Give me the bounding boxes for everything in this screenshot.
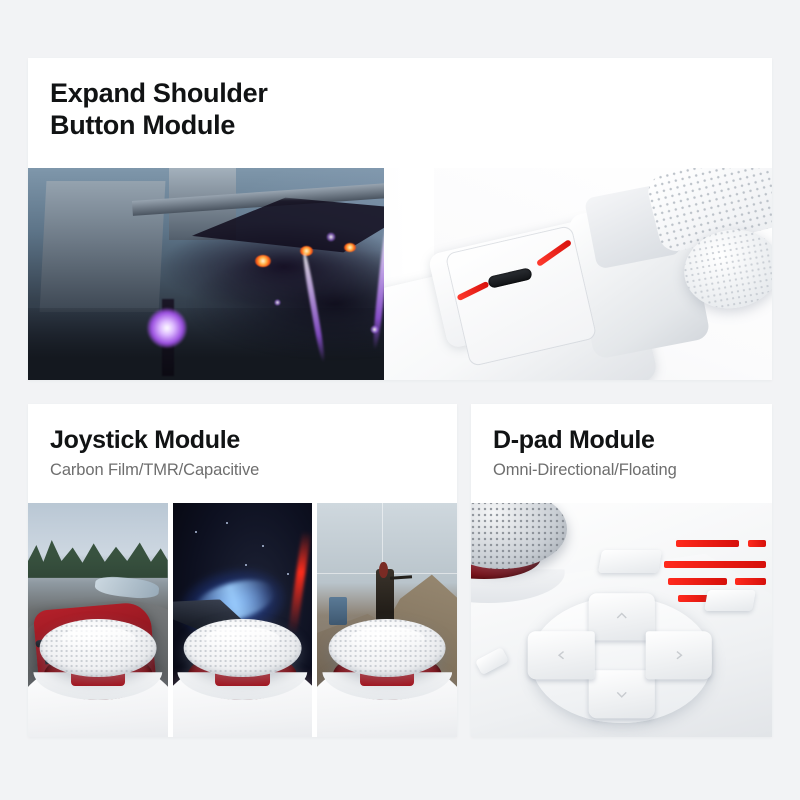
red-accent-stripe [668,578,727,585]
home-button [704,590,756,611]
joystick-thumb-space [173,503,313,737]
hero-card-header: Expand Shoulder Button Module [28,58,772,142]
dpad-card-header: D-pad Module Omni-Directional/Floating [471,404,772,480]
scene-energy-orb [147,308,187,348]
shooter-crate [329,597,347,625]
chevron-left-icon [556,651,567,660]
joystick-thumb-cap [184,619,301,677]
joystick-render [173,625,313,737]
chevron-up-icon [616,612,627,621]
racing-treeline [28,536,168,578]
joystick-thumb-cap [39,619,156,677]
space-star [287,573,289,575]
space-red-light [288,531,311,634]
space-star [245,564,247,566]
dpad-cross [546,604,697,712]
hero-card-title-line1: Expand Shoulder [50,78,772,110]
menu-button [598,550,662,573]
joystick-thumb-shooter [317,503,457,737]
thumbstick-cap [471,503,567,569]
hero-card-title-line2: Button Module [50,110,772,142]
scene-spark [326,232,336,242]
dpad-key-right [646,632,712,679]
joystick-card-title: Joystick Module [50,426,457,456]
scene-creature-eye [255,255,271,267]
joystick-render [317,625,457,737]
joystick-card-header: Joystick Module Carbon Film/TMR/Capaciti… [28,404,457,480]
dpad-card-thumbstick [471,503,567,597]
card-expand-shoulder-module[interactable]: Expand Shoulder Button Module [28,58,772,380]
card-joystick-module[interactable]: Joystick Module Carbon Film/TMR/Capaciti… [28,404,457,737]
dpad-key-down [588,670,654,717]
red-accent-stripe [748,540,766,547]
dpad-card-subtitle: Omni-Directional/Floating [493,461,772,480]
space-star [195,531,197,533]
racing-lane-marking [94,575,160,600]
hero-card-title: Expand Shoulder Button Module [50,78,772,142]
space-star [226,522,228,524]
joystick-thumb-cap [329,619,446,677]
scene-spark [274,299,281,306]
joystick-card-subtitle: Carbon Film/TMR/Capacitive [50,461,457,480]
joystick-thumb-racing [28,503,168,737]
red-accent-stripe [735,578,766,585]
joystick-thumbnail-row [28,503,457,737]
dpad-module-photo [471,503,772,737]
dpad-key-left [528,632,594,679]
red-accent-stripe [664,561,766,568]
red-accent-stripe [676,540,739,547]
product-feature-page: Expand Shoulder Button Module [0,0,800,800]
controller-shoulder-render [384,168,772,380]
dpad-card-title: D-pad Module [493,426,772,456]
chevron-down-icon [616,690,627,699]
shooter-soldier-head [379,562,387,578]
card-dpad-module[interactable]: D-pad Module Omni-Directional/Floating [471,404,772,737]
hero-shoulder-module-photo [28,168,772,380]
chevron-right-icon [673,651,684,660]
space-star [262,545,264,547]
joystick-render [28,625,168,737]
